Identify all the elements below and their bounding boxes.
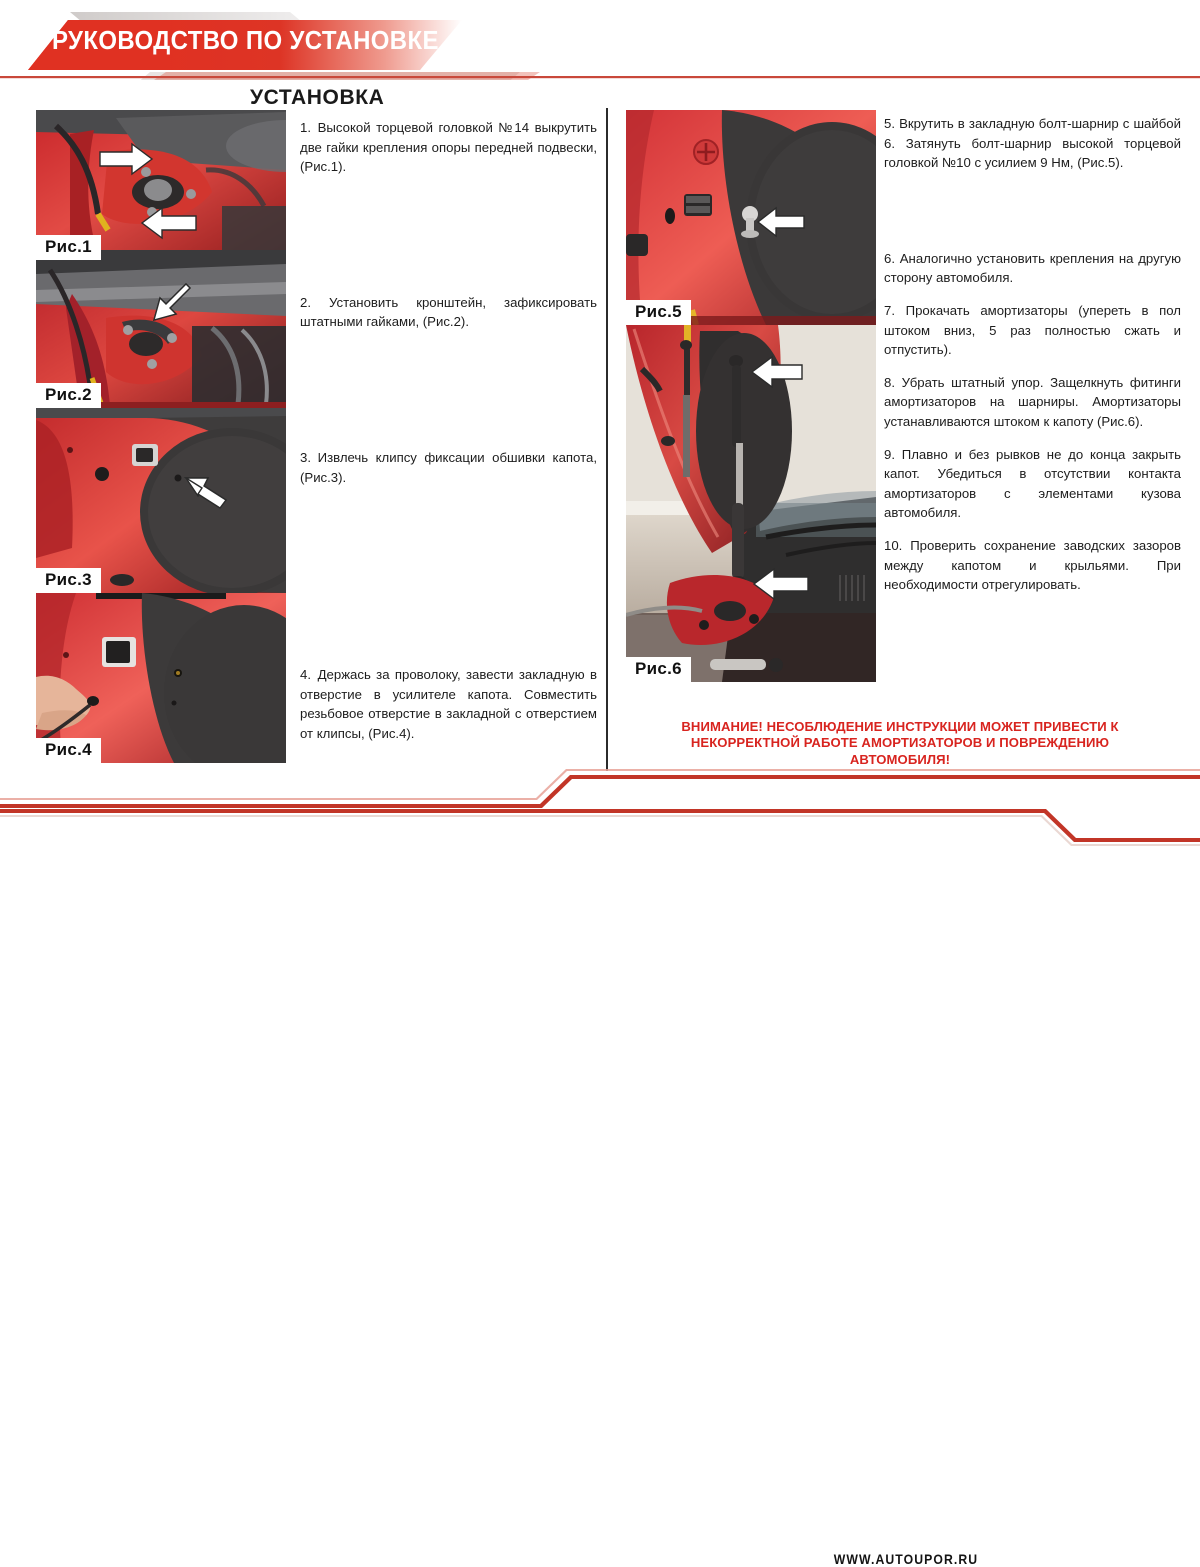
figure-label-4: Рис.4 — [36, 738, 101, 763]
header-banner: РУКОВОДСТВО ПО УСТАНОВКЕ — [0, 0, 1200, 80]
figure-image-2: Рис.2 — [36, 260, 286, 408]
instruction-step-9: 9. Плавно и без рывков не до конца закры… — [884, 445, 1181, 523]
instruction-step-10: 10. Проверить сохранение заводских зазор… — [884, 536, 1181, 595]
figure-image-5: Рис.5 — [626, 110, 876, 325]
instruction-step-7: 7. Прокачать амортизаторы (упереть в пол… — [884, 301, 1181, 360]
instruction-text-right: 5. Вкрутить в закладную болт-шарнир с ша… — [884, 114, 1181, 595]
header-title: РУКОВОДСТВО ПО УСТАНОВКЕ — [52, 27, 541, 56]
text-spacer — [300, 487, 597, 603]
figure-image-6: Рис.6 — [626, 325, 876, 682]
instruction-step-4: 4. Держась за проволоку, завести закладн… — [300, 665, 597, 743]
instruction-step-6: 6. Аналогично установить крепления на др… — [884, 249, 1181, 288]
figure-label-5: Рис.5 — [626, 300, 691, 325]
section-title: УСТАНОВКА — [250, 86, 384, 110]
text-spacer — [884, 173, 1181, 249]
figure-label-2: Рис.2 — [36, 383, 101, 408]
figure-column-left: Рис.1 — [36, 110, 286, 763]
text-spacer — [300, 332, 597, 448]
text-spacer — [884, 432, 1181, 445]
warning-line-1: ВНИМАНИЕ! НЕСОБЛЮДЕНИЕ ИНСТРУКЦИИ МОЖЕТ … — [620, 719, 1180, 735]
warning-block: ВНИМАНИЕ! НЕСОБЛЮДЕНИЕ ИНСТРУКЦИИ МОЖЕТ … — [620, 719, 1180, 768]
footer-url[interactable]: WWW.AUTOUPOR.RU — [753, 1552, 1059, 1567]
text-spacer — [884, 523, 1181, 536]
instruction-step-1: 1. Высокой торцевой головкой №14 выкрути… — [300, 118, 597, 177]
figure-image-1: Рис.1 — [36, 110, 286, 260]
figure-image-4: Рис.4 — [36, 593, 286, 763]
column-divider — [606, 108, 608, 771]
instruction-step-2: 2. Установить кронштейн, зафиксировать ш… — [300, 293, 597, 332]
instruction-text-left: 1. Высокой торцевой головкой №14 выкрути… — [300, 118, 597, 744]
footer-band: WWW.AUTOUPOR.RU — [0, 769, 1200, 849]
figure-label-1: Рис.1 — [36, 235, 101, 260]
text-spacer — [884, 288, 1181, 301]
instruction-step-5: 5. Вкрутить в закладную болт-шарнир с ша… — [884, 114, 1181, 173]
figure-image-3: Рис.3 — [36, 408, 286, 593]
instruction-step-8: 8. Убрать штатный упор. Защелкнуть фитин… — [884, 373, 1181, 432]
figure-label-6: Рис.6 — [626, 657, 691, 682]
figure-label-3: Рис.3 — [36, 568, 101, 593]
footer-graphic — [0, 769, 1200, 849]
figure-column-right: Рис.5 — [626, 110, 876, 682]
text-spacer — [300, 603, 597, 665]
instruction-step-3: 3. Извлечь клипсу фиксации обшивки капот… — [300, 448, 597, 487]
text-spacer — [300, 177, 597, 293]
warning-line-3: АВТОМОБИЛЯ! — [620, 752, 1180, 768]
warning-line-2: НЕКОРРЕКТНОЙ РАБОТЕ АМОРТИЗАТОРОВ И ПОВР… — [620, 735, 1180, 751]
text-spacer — [884, 360, 1181, 373]
